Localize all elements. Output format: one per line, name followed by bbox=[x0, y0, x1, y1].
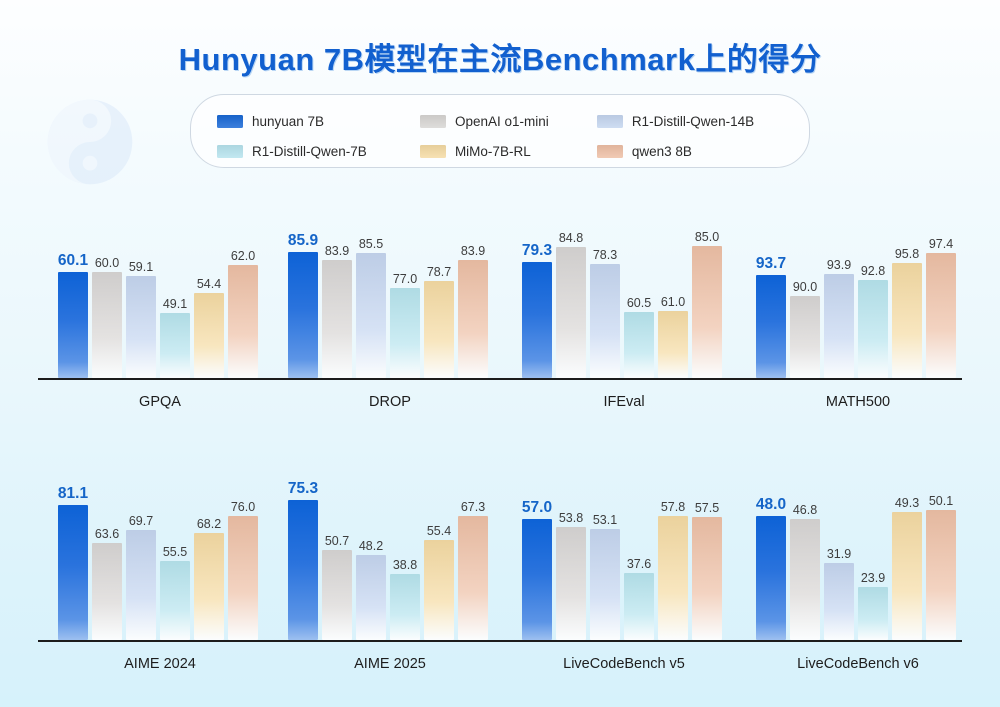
bar-column[interactable]: 55.5 bbox=[160, 460, 190, 640]
bar-value-label: 60.1 bbox=[58, 252, 88, 270]
bar-openai-o1-mini[interactable] bbox=[92, 543, 122, 640]
bar-value-label: 53.8 bbox=[559, 511, 583, 525]
bar-qwen3-8b[interactable] bbox=[228, 265, 258, 378]
bar-openai-o1-mini[interactable] bbox=[92, 272, 122, 378]
bar-value-label: 49.3 bbox=[895, 496, 919, 510]
bar-column[interactable]: 84.8 bbox=[556, 198, 586, 378]
bar-value-label: 81.1 bbox=[58, 485, 88, 503]
bar-r1-distill-qwen-14b[interactable] bbox=[126, 530, 156, 640]
bar-column[interactable]: 48.0 bbox=[756, 460, 786, 640]
bar-column[interactable]: 49.1 bbox=[160, 198, 190, 378]
bar-r1-distill-qwen-7b[interactable] bbox=[160, 561, 190, 640]
bar-value-label: 46.8 bbox=[793, 503, 817, 517]
bar-r1-distill-qwen-14b[interactable] bbox=[824, 563, 854, 640]
bar-qwen3-8b[interactable] bbox=[228, 516, 258, 640]
legend-swatch bbox=[217, 145, 243, 158]
category-label: IFEval bbox=[514, 394, 734, 410]
bar-column[interactable]: 50.1 bbox=[926, 460, 956, 640]
bar-hunyuan-7b[interactable] bbox=[756, 275, 786, 378]
bar-value-label: 61.0 bbox=[661, 295, 685, 309]
legend-item-r1-distill-qwen-14b[interactable]: R1-Distill-Qwen-14B bbox=[597, 114, 783, 129]
legend-label: R1-Distill-Qwen-14B bbox=[632, 114, 754, 129]
bar-mimo-7b-rl[interactable] bbox=[892, 512, 922, 640]
chart-legend: hunyuan 7B OpenAI o1-mini R1-Distill-Qwe… bbox=[190, 94, 810, 168]
bar-set: 79.384.878.360.561.085.0 bbox=[522, 198, 726, 378]
bar-r1-distill-qwen-7b[interactable] bbox=[390, 574, 420, 640]
bar-column[interactable]: 54.4 bbox=[194, 198, 224, 378]
bar-column[interactable]: 57.8 bbox=[658, 460, 688, 640]
hunyuan-swirl-logo bbox=[44, 96, 136, 188]
bar-value-label: 93.7 bbox=[756, 255, 786, 273]
bar-value-label: 79.3 bbox=[522, 242, 552, 260]
legend-row-1: hunyuan 7B OpenAI o1-mini R1-Distill-Qwe… bbox=[217, 106, 783, 136]
legend-label: OpenAI o1-mini bbox=[455, 114, 549, 129]
bar-value-label: 67.3 bbox=[461, 500, 485, 514]
bar-column[interactable]: 78.7 bbox=[424, 198, 454, 378]
legend-item-hunyuan-7b[interactable]: hunyuan 7B bbox=[217, 114, 420, 129]
legend-label: qwen3 8B bbox=[632, 144, 692, 159]
bar-r1-distill-qwen-7b[interactable] bbox=[624, 312, 654, 378]
legend-row-2: R1-Distill-Qwen-7B MiMo-7B-RL qwen3 8B bbox=[217, 136, 783, 166]
bar-column[interactable]: 53.8 bbox=[556, 460, 586, 640]
bar-group-ifeval: 79.384.878.360.561.085.0IFEval bbox=[522, 198, 727, 408]
page-title: Hunyuan 7B模型在主流Benchmark上的得分 bbox=[0, 34, 1000, 79]
bar-column[interactable]: 59.1 bbox=[126, 198, 156, 378]
bar-group-aime-2025: 75.350.748.238.855.467.3AIME 2025 bbox=[288, 460, 493, 670]
category-label: AIME 2025 bbox=[280, 656, 500, 672]
bar-column[interactable]: 60.1 bbox=[58, 198, 88, 378]
bar-set: 60.160.059.149.154.462.0 bbox=[58, 198, 262, 378]
bar-value-label: 93.9 bbox=[827, 258, 851, 272]
bar-r1-distill-qwen-7b[interactable] bbox=[858, 587, 888, 640]
bar-column[interactable]: 76.0 bbox=[228, 460, 258, 640]
bar-hunyuan-7b[interactable] bbox=[288, 252, 318, 378]
bar-set: 48.046.831.923.949.350.1 bbox=[756, 460, 960, 640]
bar-column[interactable]: 46.8 bbox=[790, 460, 820, 640]
bar-r1-distill-qwen-14b[interactable] bbox=[356, 555, 386, 640]
category-label: AIME 2024 bbox=[50, 656, 270, 672]
bar-value-label: 31.9 bbox=[827, 547, 851, 561]
bar-column[interactable]: 48.2 bbox=[356, 460, 386, 640]
bar-value-label: 84.8 bbox=[559, 231, 583, 245]
bar-openai-o1-mini[interactable] bbox=[322, 550, 352, 640]
bar-value-label: 83.9 bbox=[325, 244, 349, 258]
bar-hunyuan-7b[interactable] bbox=[288, 500, 318, 640]
bar-r1-distill-qwen-7b[interactable] bbox=[624, 573, 654, 640]
bar-group-gpqa: 60.160.059.149.154.462.0GPQA bbox=[58, 198, 263, 408]
bar-value-label: 92.8 bbox=[861, 264, 885, 278]
legend-label: MiMo-7B-RL bbox=[455, 144, 531, 159]
legend-label: R1-Distill-Qwen-7B bbox=[252, 144, 367, 159]
bar-value-label: 48.0 bbox=[756, 496, 786, 514]
bar-set: 57.053.853.137.657.857.5 bbox=[522, 460, 726, 640]
bar-qwen3-8b[interactable] bbox=[458, 260, 488, 378]
bar-r1-distill-qwen-14b[interactable] bbox=[356, 253, 386, 378]
legend-swatch bbox=[420, 115, 446, 128]
bar-column[interactable]: 97.4 bbox=[926, 198, 956, 378]
bar-column[interactable]: 62.0 bbox=[228, 198, 258, 378]
bar-r1-distill-qwen-14b[interactable] bbox=[824, 274, 854, 378]
bar-mimo-7b-rl[interactable] bbox=[424, 540, 454, 640]
bar-mimo-7b-rl[interactable] bbox=[194, 293, 224, 378]
bar-value-label: 60.0 bbox=[95, 256, 119, 270]
bar-column[interactable]: 60.5 bbox=[624, 198, 654, 378]
bar-value-label: 48.2 bbox=[359, 539, 383, 553]
bar-value-label: 85.0 bbox=[695, 230, 719, 244]
bar-mimo-7b-rl[interactable] bbox=[424, 281, 454, 378]
bar-column[interactable]: 90.0 bbox=[790, 198, 820, 378]
bar-value-label: 59.1 bbox=[129, 260, 153, 274]
bar-value-label: 50.1 bbox=[929, 494, 953, 508]
bar-value-label: 83.9 bbox=[461, 244, 485, 258]
bar-mimo-7b-rl[interactable] bbox=[658, 311, 688, 378]
bar-column[interactable]: 83.9 bbox=[322, 198, 352, 378]
legend-swatch bbox=[420, 145, 446, 158]
category-label: LiveCodeBench v5 bbox=[514, 656, 734, 672]
bar-set: 85.983.985.577.078.783.9 bbox=[288, 198, 492, 378]
bar-column[interactable]: 55.4 bbox=[424, 460, 454, 640]
category-label: MATH500 bbox=[748, 394, 968, 410]
bar-qwen3-8b[interactable] bbox=[692, 517, 722, 640]
bar-openai-o1-mini[interactable] bbox=[790, 296, 820, 378]
bar-r1-distill-qwen-14b[interactable] bbox=[590, 264, 620, 378]
bar-hunyuan-7b[interactable] bbox=[58, 505, 88, 640]
bar-value-label: 62.0 bbox=[231, 249, 255, 263]
bar-set: 81.163.669.755.568.276.0 bbox=[58, 460, 262, 640]
bar-value-label: 57.0 bbox=[522, 499, 552, 517]
bar-value-label: 77.0 bbox=[393, 272, 417, 286]
bar-column[interactable]: 67.3 bbox=[458, 460, 488, 640]
bar-value-label: 55.4 bbox=[427, 524, 451, 538]
bar-value-label: 23.9 bbox=[861, 571, 885, 585]
bar-value-label: 60.5 bbox=[627, 296, 651, 310]
bar-openai-o1-mini[interactable] bbox=[556, 247, 586, 378]
bar-column[interactable]: 92.8 bbox=[858, 198, 888, 378]
bar-value-label: 85.9 bbox=[288, 232, 318, 250]
bar-qwen3-8b[interactable] bbox=[458, 516, 488, 640]
bar-hunyuan-7b[interactable] bbox=[522, 519, 552, 641]
legend-item-mimo-7b-rl[interactable]: MiMo-7B-RL bbox=[420, 144, 597, 159]
bar-value-label: 57.8 bbox=[661, 500, 685, 514]
bar-r1-distill-qwen-7b[interactable] bbox=[160, 313, 190, 378]
legend-swatch bbox=[597, 115, 623, 128]
category-label: DROP bbox=[280, 394, 500, 410]
legend-swatch bbox=[597, 145, 623, 158]
bar-group-math500: 93.790.093.992.895.897.4MATH500 bbox=[756, 198, 961, 408]
bar-column[interactable]: 83.9 bbox=[458, 198, 488, 378]
bar-column[interactable]: 93.7 bbox=[756, 198, 786, 378]
legend-label: hunyuan 7B bbox=[252, 114, 324, 129]
bar-mimo-7b-rl[interactable] bbox=[892, 263, 922, 378]
bar-column[interactable]: 68.2 bbox=[194, 460, 224, 640]
bar-set: 93.790.093.992.895.897.4 bbox=[756, 198, 960, 378]
bar-value-label: 78.7 bbox=[427, 265, 451, 279]
bar-column[interactable]: 69.7 bbox=[126, 460, 156, 640]
bar-column[interactable]: 85.9 bbox=[288, 198, 318, 378]
bar-value-label: 54.4 bbox=[197, 277, 221, 291]
bar-r1-distill-qwen-7b[interactable] bbox=[390, 288, 420, 378]
bar-group-livecodebench-v6: 48.046.831.923.949.350.1LiveCodeBench v6 bbox=[756, 460, 961, 670]
bar-group-drop: 85.983.985.577.078.783.9DROP bbox=[288, 198, 493, 408]
bar-group-livecodebench-v5: 57.053.853.137.657.857.5LiveCodeBench v5 bbox=[522, 460, 727, 670]
bar-column[interactable]: 78.3 bbox=[590, 198, 620, 378]
bar-column[interactable]: 53.1 bbox=[590, 460, 620, 640]
bar-value-label: 85.5 bbox=[359, 237, 383, 251]
bar-column[interactable]: 75.3 bbox=[288, 460, 318, 640]
bar-r1-distill-qwen-7b[interactable] bbox=[858, 280, 888, 378]
bar-openai-o1-mini[interactable] bbox=[556, 527, 586, 640]
bar-value-label: 97.4 bbox=[929, 237, 953, 251]
bar-value-label: 37.6 bbox=[627, 557, 651, 571]
bar-value-label: 53.1 bbox=[593, 513, 617, 527]
bar-mimo-7b-rl[interactable] bbox=[194, 533, 224, 640]
bar-column[interactable]: 85.5 bbox=[356, 198, 386, 378]
legend-swatch bbox=[217, 115, 243, 128]
bar-hunyuan-7b[interactable] bbox=[756, 516, 786, 640]
bar-value-label: 50.7 bbox=[325, 534, 349, 548]
bar-column[interactable]: 60.0 bbox=[92, 198, 122, 378]
bar-column[interactable]: 50.7 bbox=[322, 460, 352, 640]
bar-column[interactable]: 49.3 bbox=[892, 460, 922, 640]
bar-mimo-7b-rl[interactable] bbox=[658, 516, 688, 640]
bar-qwen3-8b[interactable] bbox=[692, 246, 722, 378]
bar-set: 75.350.748.238.855.467.3 bbox=[288, 460, 492, 640]
bar-column[interactable]: 93.9 bbox=[824, 198, 854, 378]
legend-item-openai-o1-mini[interactable]: OpenAI o1-mini bbox=[420, 114, 597, 129]
bar-column[interactable]: 61.0 bbox=[658, 198, 688, 378]
bar-column[interactable]: 85.0 bbox=[692, 198, 722, 378]
bar-group-aime-2024: 81.163.669.755.568.276.0AIME 2024 bbox=[58, 460, 263, 670]
bar-openai-o1-mini[interactable] bbox=[322, 260, 352, 378]
bar-value-label: 55.5 bbox=[163, 545, 187, 559]
bar-value-label: 68.2 bbox=[197, 517, 221, 531]
bar-value-label: 63.6 bbox=[95, 527, 119, 541]
bar-hunyuan-7b[interactable] bbox=[58, 272, 88, 378]
bar-column[interactable]: 77.0 bbox=[390, 198, 420, 378]
legend-item-qwen3-8b[interactable]: qwen3 8B bbox=[597, 144, 783, 159]
bar-hunyuan-7b[interactable] bbox=[522, 262, 552, 378]
bar-value-label: 69.7 bbox=[129, 514, 153, 528]
bar-column[interactable]: 57.5 bbox=[692, 460, 722, 640]
bar-value-label: 90.0 bbox=[793, 280, 817, 294]
bar-column[interactable]: 37.6 bbox=[624, 460, 654, 640]
bar-column[interactable]: 38.8 bbox=[390, 460, 420, 640]
bar-qwen3-8b[interactable] bbox=[926, 253, 956, 378]
bar-value-label: 78.3 bbox=[593, 248, 617, 262]
bar-column[interactable]: 57.0 bbox=[522, 460, 552, 640]
bar-value-label: 38.8 bbox=[393, 558, 417, 572]
bar-value-label: 95.8 bbox=[895, 247, 919, 261]
bar-column[interactable]: 63.6 bbox=[92, 460, 122, 640]
bar-column[interactable]: 95.8 bbox=[892, 198, 922, 378]
bar-r1-distill-qwen-14b[interactable] bbox=[590, 529, 620, 640]
bar-column[interactable]: 79.3 bbox=[522, 198, 552, 378]
bar-column[interactable]: 31.9 bbox=[824, 460, 854, 640]
legend-item-r1-distill-qwen-7b[interactable]: R1-Distill-Qwen-7B bbox=[217, 144, 420, 159]
bar-r1-distill-qwen-14b[interactable] bbox=[126, 276, 156, 378]
bar-column[interactable]: 81.1 bbox=[58, 460, 88, 640]
bar-qwen3-8b[interactable] bbox=[926, 510, 956, 640]
bar-value-label: 49.1 bbox=[163, 297, 187, 311]
bar-value-label: 76.0 bbox=[231, 500, 255, 514]
bar-column[interactable]: 23.9 bbox=[858, 460, 888, 640]
bar-value-label: 57.5 bbox=[695, 501, 719, 515]
category-label: GPQA bbox=[50, 394, 270, 410]
bar-openai-o1-mini[interactable] bbox=[790, 519, 820, 640]
category-label: LiveCodeBench v6 bbox=[748, 656, 968, 672]
bar-value-label: 75.3 bbox=[288, 480, 318, 498]
